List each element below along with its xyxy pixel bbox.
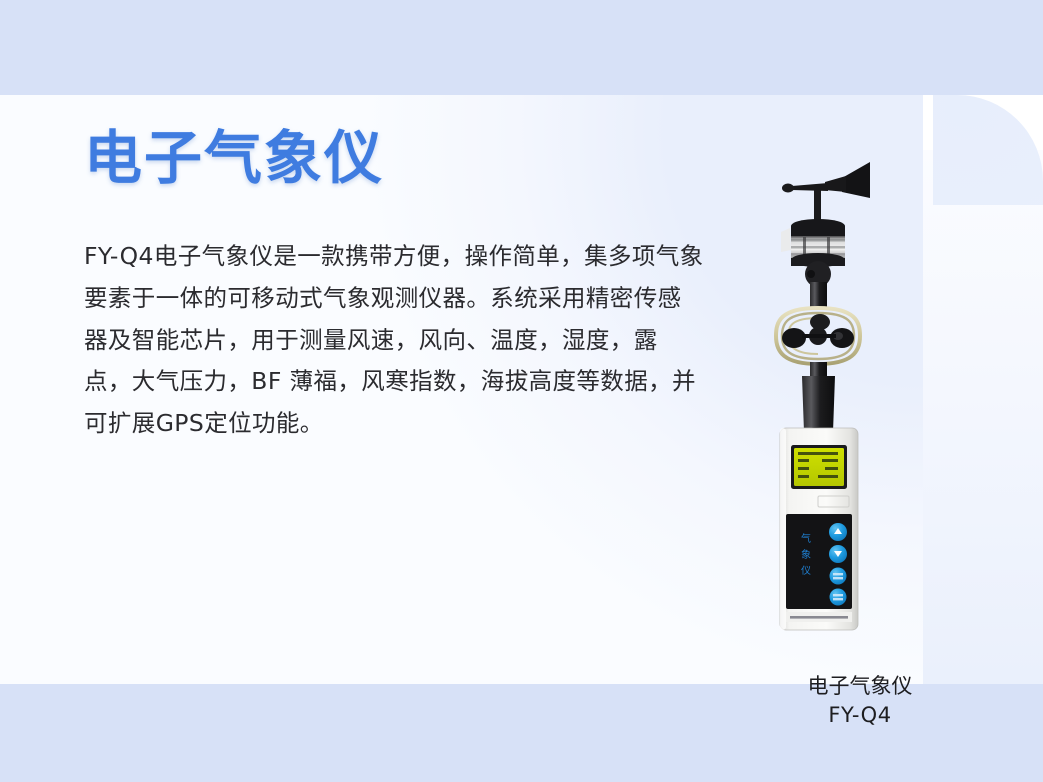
- caption-model: FY-Q4: [740, 701, 980, 730]
- mast-pole: [802, 362, 835, 437]
- product-caption: 电子气象仪 FY-Q4: [740, 672, 980, 730]
- svg-text:象: 象: [801, 549, 811, 561]
- panel-brand-text: 气 象 仪: [801, 532, 811, 577]
- product-description: FY-Q4电子气象仪是一款携带方便，操作简单，集多项气象要素于一体的可移动式气象…: [84, 236, 704, 445]
- button-function: [830, 568, 847, 585]
- radiation-shield-icon: [781, 219, 845, 267]
- button-power: [830, 589, 847, 606]
- cup-anemometer-icon: [776, 308, 860, 364]
- wind-vane-icon: [782, 162, 870, 224]
- sensor-joint: [805, 261, 831, 308]
- text-column: 电子气象仪 FY-Q4电子气象仪是一款携带方便，操作简单，集多项气象要素于一体的…: [84, 128, 724, 445]
- instrument-body: 气 象 仪: [780, 428, 858, 630]
- svg-text:气: 气: [801, 532, 811, 545]
- slide-stage: 电子气象仪 FY-Q4电子气象仪是一款携带方便，操作简单，集多项气象要素于一体的…: [0, 0, 1043, 782]
- page-title: 电子气象仪: [84, 128, 724, 189]
- product-photo: 气 象 仪: [770, 140, 970, 640]
- manufacturer-text: [790, 616, 848, 619]
- top-background-band: [0, 0, 1043, 95]
- weather-station-illustration: 气 象 仪: [770, 140, 970, 640]
- caption-name: 电子气象仪: [740, 672, 980, 701]
- svg-text:仪: 仪: [801, 565, 811, 577]
